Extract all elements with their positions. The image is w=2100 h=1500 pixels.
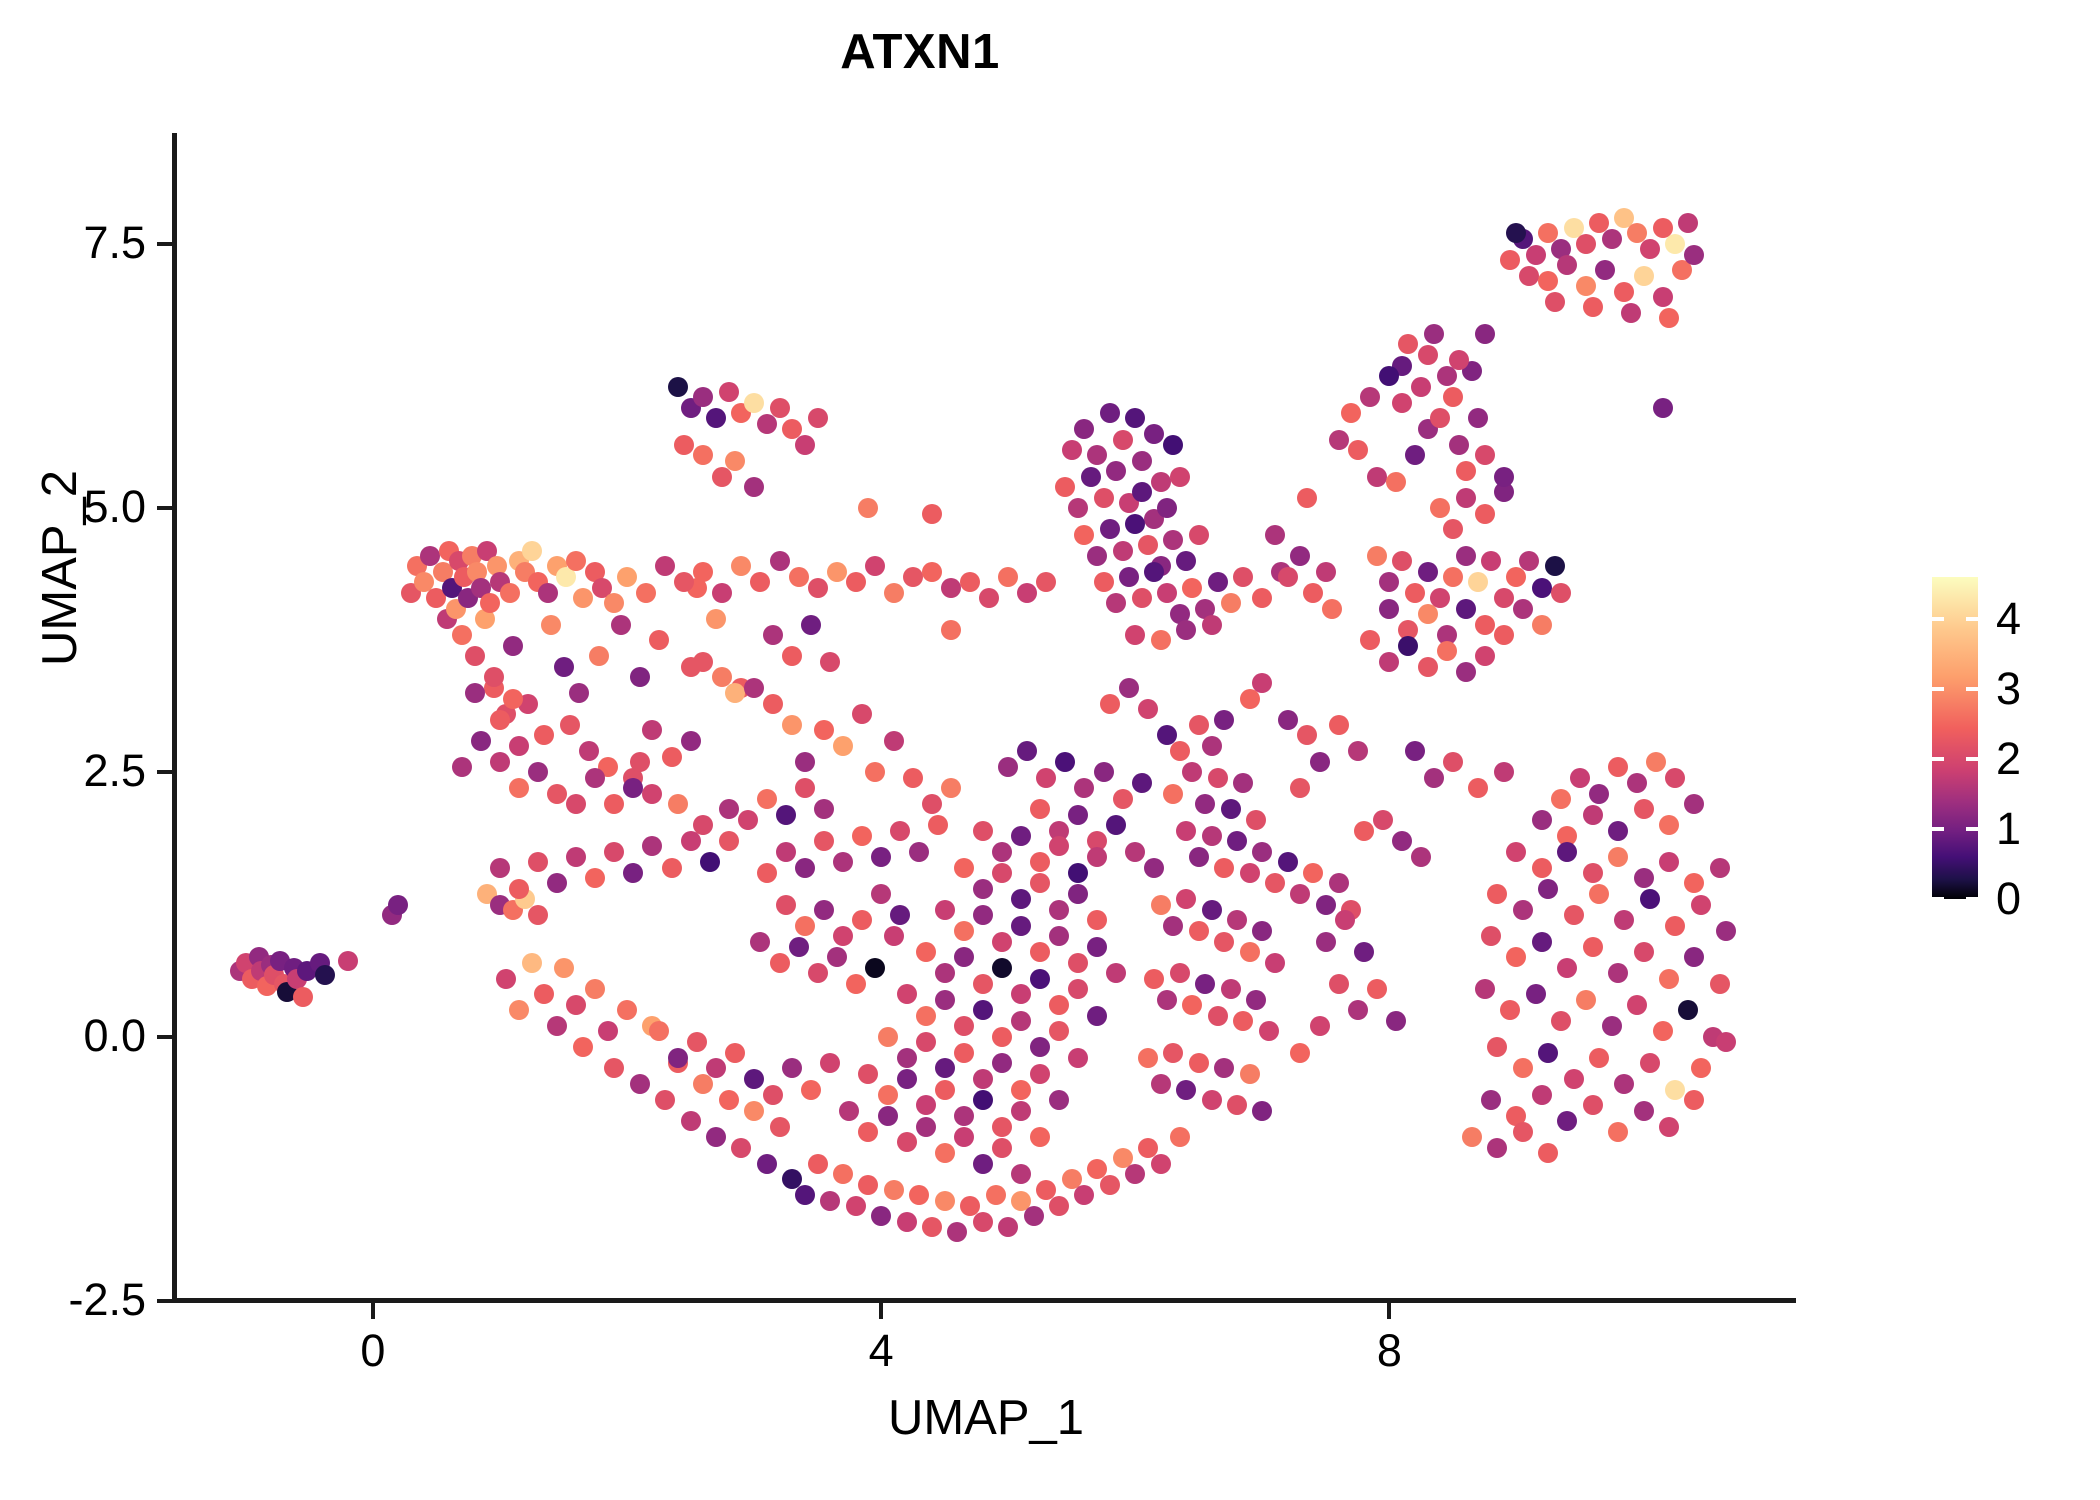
scatter-point [490, 858, 510, 878]
scatter-point [1583, 805, 1603, 825]
scatter-point [534, 984, 554, 1004]
scatter-point [903, 768, 923, 788]
scatter-point [1087, 1006, 1107, 1026]
scatter-point [452, 625, 472, 645]
scatter-point [909, 1185, 929, 1205]
scatter-point [719, 799, 739, 819]
page-title: ATXN1 [0, 24, 1840, 80]
scatter-point [1055, 752, 1075, 772]
scatter-point [1087, 910, 1107, 930]
scatter-point [1608, 1122, 1628, 1142]
scatter-point [566, 847, 586, 867]
scatter-point [560, 715, 580, 735]
scatter-point [1068, 805, 1088, 825]
scatter-point [1456, 546, 1476, 566]
scatter-point [808, 408, 828, 428]
scatter-point [1538, 1143, 1558, 1163]
scatter-point [604, 1058, 624, 1078]
scatter-point [903, 567, 923, 587]
scatter-point [547, 784, 567, 804]
scatter-point [1138, 699, 1158, 719]
scatter-point [846, 1196, 866, 1216]
scatter-point [1608, 821, 1628, 841]
scatter-point [878, 1106, 898, 1126]
y-tick-mark [157, 506, 173, 510]
scatter-point [1678, 213, 1698, 233]
scatter-point [1500, 1000, 1520, 1020]
scatter-point [1202, 1090, 1222, 1110]
scatter-point [1176, 1080, 1196, 1100]
scatter-point [731, 1138, 751, 1158]
scatter-point [1608, 757, 1628, 777]
scatter-point [992, 1138, 1012, 1158]
scatter-point [795, 1185, 815, 1205]
scatter-point [820, 652, 840, 672]
scatter-point [1132, 773, 1152, 793]
scatter-point [1068, 979, 1088, 999]
scatter-point [1532, 1085, 1552, 1105]
scatter-point [916, 942, 936, 962]
scatter-point [693, 387, 713, 407]
scatter-point [630, 667, 650, 687]
scatter-point [1202, 900, 1222, 920]
scatter-point [744, 393, 764, 413]
scatter-point [744, 1101, 764, 1121]
scatter-point [1316, 895, 1336, 915]
scatter-point [1614, 282, 1634, 302]
scatter-point [922, 794, 942, 814]
scatter-point [1017, 583, 1037, 603]
scatter-point [1011, 1101, 1031, 1121]
scatter-point [750, 572, 770, 592]
scatter-point [1125, 514, 1145, 534]
scatter-point [554, 958, 574, 978]
scatter-point [1468, 778, 1488, 798]
scatter-point [706, 609, 726, 629]
scatter-point [1532, 932, 1552, 952]
scatter-point [1138, 535, 1158, 555]
scatter-point [1354, 942, 1374, 962]
scatter-point [1030, 873, 1050, 893]
scatter-point [992, 863, 1012, 883]
scatter-point [719, 831, 739, 851]
scatter-point [1678, 1000, 1698, 1020]
x-axis-title: UMAP_1 [176, 1390, 1796, 1446]
scatter-point [922, 562, 942, 582]
scatter-point [1100, 403, 1120, 423]
scatter-point [1634, 266, 1654, 286]
scatter-point [878, 1027, 898, 1047]
scatter-point [916, 1117, 936, 1137]
scatter-point [1659, 969, 1679, 989]
scatter-point [884, 926, 904, 946]
y-tick-label: 0.0 [0, 1010, 146, 1062]
x-tick-mark [1387, 1303, 1391, 1319]
scatter-point [954, 947, 974, 967]
scatter-point [1557, 842, 1577, 862]
scatter-point [1367, 979, 1387, 999]
scatter-point [1475, 646, 1495, 666]
scatter-point [1297, 488, 1317, 508]
scatter-point [1392, 831, 1412, 851]
scatter-point [795, 435, 815, 455]
scatter-point [1506, 567, 1526, 587]
scatter-point [1011, 1164, 1031, 1184]
scatter-point [1665, 768, 1685, 788]
scatter-point [1024, 1206, 1044, 1226]
scatter-point [808, 1154, 828, 1174]
scatter-point [858, 1064, 878, 1084]
scatter-point [935, 1191, 955, 1211]
scatter-point [693, 1074, 713, 1094]
scatter-point [1068, 863, 1088, 883]
scatter-point [852, 910, 872, 930]
scatter-point [1602, 1016, 1622, 1036]
scatter-point [833, 852, 853, 872]
scatter-point [1074, 1185, 1094, 1205]
scatter-point [1227, 910, 1247, 930]
scatter-point [1589, 784, 1609, 804]
scatter-point [916, 1006, 936, 1026]
legend-tick-mark [1966, 757, 1978, 761]
scatter-point [566, 551, 586, 571]
scatter-point [490, 752, 510, 772]
scatter-point [1176, 889, 1196, 909]
scatter-point [763, 1085, 783, 1105]
scatter-point [725, 1043, 745, 1063]
scatter-point [1100, 519, 1120, 539]
scatter-point [1557, 958, 1577, 978]
scatter-point [973, 1154, 993, 1174]
scatter-point [770, 953, 790, 973]
scatter-point [1684, 873, 1704, 893]
scatter-point [1602, 229, 1622, 249]
scatter-point [1634, 942, 1654, 962]
scatter-point [1151, 630, 1171, 650]
scatter-point [1246, 990, 1266, 1010]
scatter-point [1367, 546, 1387, 566]
scatter-point [1195, 974, 1215, 994]
scatter-point [1163, 784, 1183, 804]
scatter-point [757, 414, 777, 434]
scatter-point [528, 905, 548, 925]
scatter-point [293, 987, 313, 1007]
scatter-point [1074, 778, 1094, 798]
scatter-points-layer [176, 133, 1796, 1301]
scatter-point [700, 852, 720, 872]
legend-tick-label: 2 [1996, 733, 2021, 785]
scatter-point [1094, 488, 1114, 508]
scatter-point [871, 847, 891, 867]
scatter-point [808, 578, 828, 598]
scatter-point [719, 382, 739, 402]
scatter-point [1240, 942, 1260, 962]
scatter-point [1646, 752, 1666, 772]
scatter-point [1538, 271, 1558, 291]
scatter-point [1513, 1058, 1533, 1078]
scatter-point [579, 741, 599, 761]
scatter-point [1418, 657, 1438, 677]
scatter-point [1011, 916, 1031, 936]
scatter-point [604, 842, 624, 862]
scatter-point [1398, 334, 1418, 354]
scatter-point [1608, 963, 1628, 983]
scatter-point [897, 1132, 917, 1152]
scatter-point [814, 900, 834, 920]
scatter-point [1576, 234, 1596, 254]
scatter-point [1392, 393, 1412, 413]
scatter-point [1030, 1037, 1050, 1057]
scatter-point [1151, 1074, 1171, 1094]
scatter-point [655, 1090, 675, 1110]
scatter-point [1265, 873, 1285, 893]
scatter-point [1265, 525, 1285, 545]
scatter-point [986, 1185, 1006, 1205]
x-tick-label: 4 [801, 1325, 961, 1377]
scatter-point [1576, 990, 1596, 1010]
scatter-point [509, 736, 529, 756]
scatter-point [846, 572, 866, 592]
scatter-point [795, 916, 815, 936]
scatter-point [1011, 826, 1031, 846]
scatter-point [1316, 562, 1336, 582]
scatter-point [1106, 815, 1126, 835]
scatter-point [668, 794, 688, 814]
scatter-point [509, 879, 529, 899]
scatter-point [1297, 725, 1317, 745]
scatter-point [1532, 578, 1552, 598]
scatter-point [1614, 1074, 1634, 1094]
scatter-point [589, 646, 609, 666]
scatter-point [1443, 519, 1463, 539]
scatter-point [1163, 916, 1183, 936]
scatter-point [1195, 794, 1215, 814]
scatter-point [833, 1164, 853, 1184]
scatter-point [598, 1021, 618, 1041]
scatter-point [1113, 541, 1133, 561]
scatter-point [1513, 599, 1533, 619]
scatter-point [1614, 910, 1634, 930]
scatter-point [757, 863, 777, 883]
scatter-point [1475, 615, 1495, 635]
scatter-point [1418, 345, 1438, 365]
scatter-point [890, 905, 910, 925]
scatter-point [750, 932, 770, 952]
scatter-point [1303, 863, 1323, 883]
scatter-point [1049, 1090, 1069, 1110]
scatter-point [763, 625, 783, 645]
y-tick-mark [157, 1035, 173, 1039]
scatter-point [973, 821, 993, 841]
scatter-point [1430, 408, 1450, 428]
scatter-point [871, 1206, 891, 1226]
scatter-point [1329, 430, 1349, 450]
scatter-point [1665, 234, 1685, 254]
scatter-point [1424, 324, 1444, 344]
scatter-point [1513, 1122, 1533, 1142]
scatter-point [636, 583, 656, 603]
scatter-point [534, 725, 554, 745]
scatter-point [1684, 794, 1704, 814]
scatter-point [585, 979, 605, 999]
scatter-point [1208, 572, 1228, 592]
scatter-point [1182, 995, 1202, 1015]
scatter-point [1087, 445, 1107, 465]
scatter-point [604, 593, 624, 613]
scatter-point [782, 646, 802, 666]
scatter-point [789, 567, 809, 587]
scatter-point [611, 615, 631, 635]
scatter-point [1011, 984, 1031, 1004]
scatter-point [1163, 435, 1183, 455]
scatter-point [1545, 556, 1565, 576]
scatter-point [1278, 567, 1298, 587]
scatter-point [566, 995, 586, 1015]
scatter-point [1055, 477, 1075, 497]
scatter-point [706, 1058, 726, 1078]
scatter-point [1494, 467, 1514, 487]
scatter-point [1487, 884, 1507, 904]
scatter-point [1456, 599, 1476, 619]
scatter-point [1405, 583, 1425, 603]
scatter-point [725, 683, 745, 703]
scatter-point [1634, 799, 1654, 819]
scatter-point [1189, 847, 1209, 867]
scatter-point [1049, 1196, 1069, 1216]
scatter-point [541, 615, 561, 635]
scatter-point [617, 1000, 637, 1020]
scatter-point [801, 615, 821, 635]
scatter-point [1398, 636, 1418, 656]
scatter-point [1405, 445, 1425, 465]
scatter-point [1621, 303, 1641, 323]
scatter-point [1583, 937, 1603, 957]
scatter-point [897, 1212, 917, 1232]
scatter-point [833, 736, 853, 756]
scatter-point [935, 900, 955, 920]
scatter-point [909, 842, 929, 862]
scatter-point [585, 868, 605, 888]
scatter-point [1221, 799, 1241, 819]
scatter-point [954, 1043, 974, 1063]
scatter-point [992, 932, 1012, 952]
y-tick-mark [157, 1299, 173, 1303]
scatter-point [814, 720, 834, 740]
scatter-point [1589, 884, 1609, 904]
scatter-point [1068, 884, 1088, 904]
scatter-point [1310, 1016, 1330, 1036]
scatter-point [1437, 366, 1457, 386]
legend-tick-mark [1932, 827, 1944, 831]
scatter-point [1348, 741, 1368, 761]
scatter-point [1538, 879, 1558, 899]
scatter-point [839, 1101, 859, 1121]
legend-tick-mark [1966, 827, 1978, 831]
scatter-point [1691, 895, 1711, 915]
scatter-point [1494, 588, 1514, 608]
scatter-point [1030, 969, 1050, 989]
scatter-point [1564, 1069, 1584, 1089]
scatter-point [1233, 773, 1253, 793]
scatter-point [604, 794, 624, 814]
scatter-point [1513, 900, 1533, 920]
scatter-point [1418, 562, 1438, 582]
scatter-point [744, 678, 764, 698]
scatter-point [795, 752, 815, 772]
scatter-point [1036, 572, 1056, 592]
scatter-point [1176, 551, 1196, 571]
scatter-point [1640, 1053, 1660, 1073]
scatter-point [1290, 884, 1310, 904]
scatter-point [820, 1053, 840, 1073]
scatter-point [1151, 1154, 1171, 1174]
scatter-point [1036, 768, 1056, 788]
scatter-point [1443, 387, 1463, 407]
scatter-point [1106, 461, 1126, 481]
scatter-point [1030, 1064, 1050, 1084]
scatter-point [1214, 932, 1234, 952]
scatter-point [1176, 821, 1196, 841]
scatter-point [1329, 715, 1349, 735]
scatter-point [1500, 250, 1520, 270]
scatter-point [1481, 551, 1501, 571]
scatter-point [935, 963, 955, 983]
scatter-point [1094, 572, 1114, 592]
scatter-point [973, 905, 993, 925]
scatter-point [662, 747, 682, 767]
scatter-point [1189, 715, 1209, 735]
scatter-point [1170, 1127, 1190, 1147]
scatter-point [770, 398, 790, 418]
plot-panel [176, 133, 1796, 1301]
scatter-point [1456, 662, 1476, 682]
scatter-point [1462, 1127, 1482, 1147]
scatter-point [1233, 567, 1253, 587]
scatter-point [858, 1175, 878, 1195]
scatter-point [992, 958, 1012, 978]
scatter-point [1100, 1175, 1120, 1195]
scatter-point [884, 1180, 904, 1200]
scatter-point [1113, 789, 1133, 809]
scatter-point [1163, 530, 1183, 550]
scatter-point [1176, 620, 1196, 640]
scatter-point [1170, 467, 1190, 487]
scatter-point [1634, 1101, 1654, 1121]
scatter-point [935, 1080, 955, 1100]
scatter-point [1487, 1138, 1507, 1158]
scatter-point [1710, 974, 1730, 994]
scatter-point [1653, 287, 1673, 307]
scatter-point [782, 1058, 802, 1078]
x-tick-mark [879, 1303, 883, 1319]
scatter-point [954, 1106, 974, 1126]
scatter-point [1640, 889, 1660, 909]
scatter-point [827, 562, 847, 582]
scatter-point [884, 731, 904, 751]
scatter-point [1360, 387, 1380, 407]
scatter-point [770, 1117, 790, 1137]
scatter-point [1157, 583, 1177, 603]
scatter-point [1367, 467, 1387, 487]
scatter-point [814, 831, 834, 851]
scatter-point [1030, 852, 1050, 872]
scatter-point [480, 593, 500, 613]
scatter-point [1208, 768, 1228, 788]
scatter-point [1716, 1032, 1736, 1052]
scatter-point [738, 810, 758, 830]
scatter-point [1354, 821, 1374, 841]
scatter-point [1589, 1048, 1609, 1068]
